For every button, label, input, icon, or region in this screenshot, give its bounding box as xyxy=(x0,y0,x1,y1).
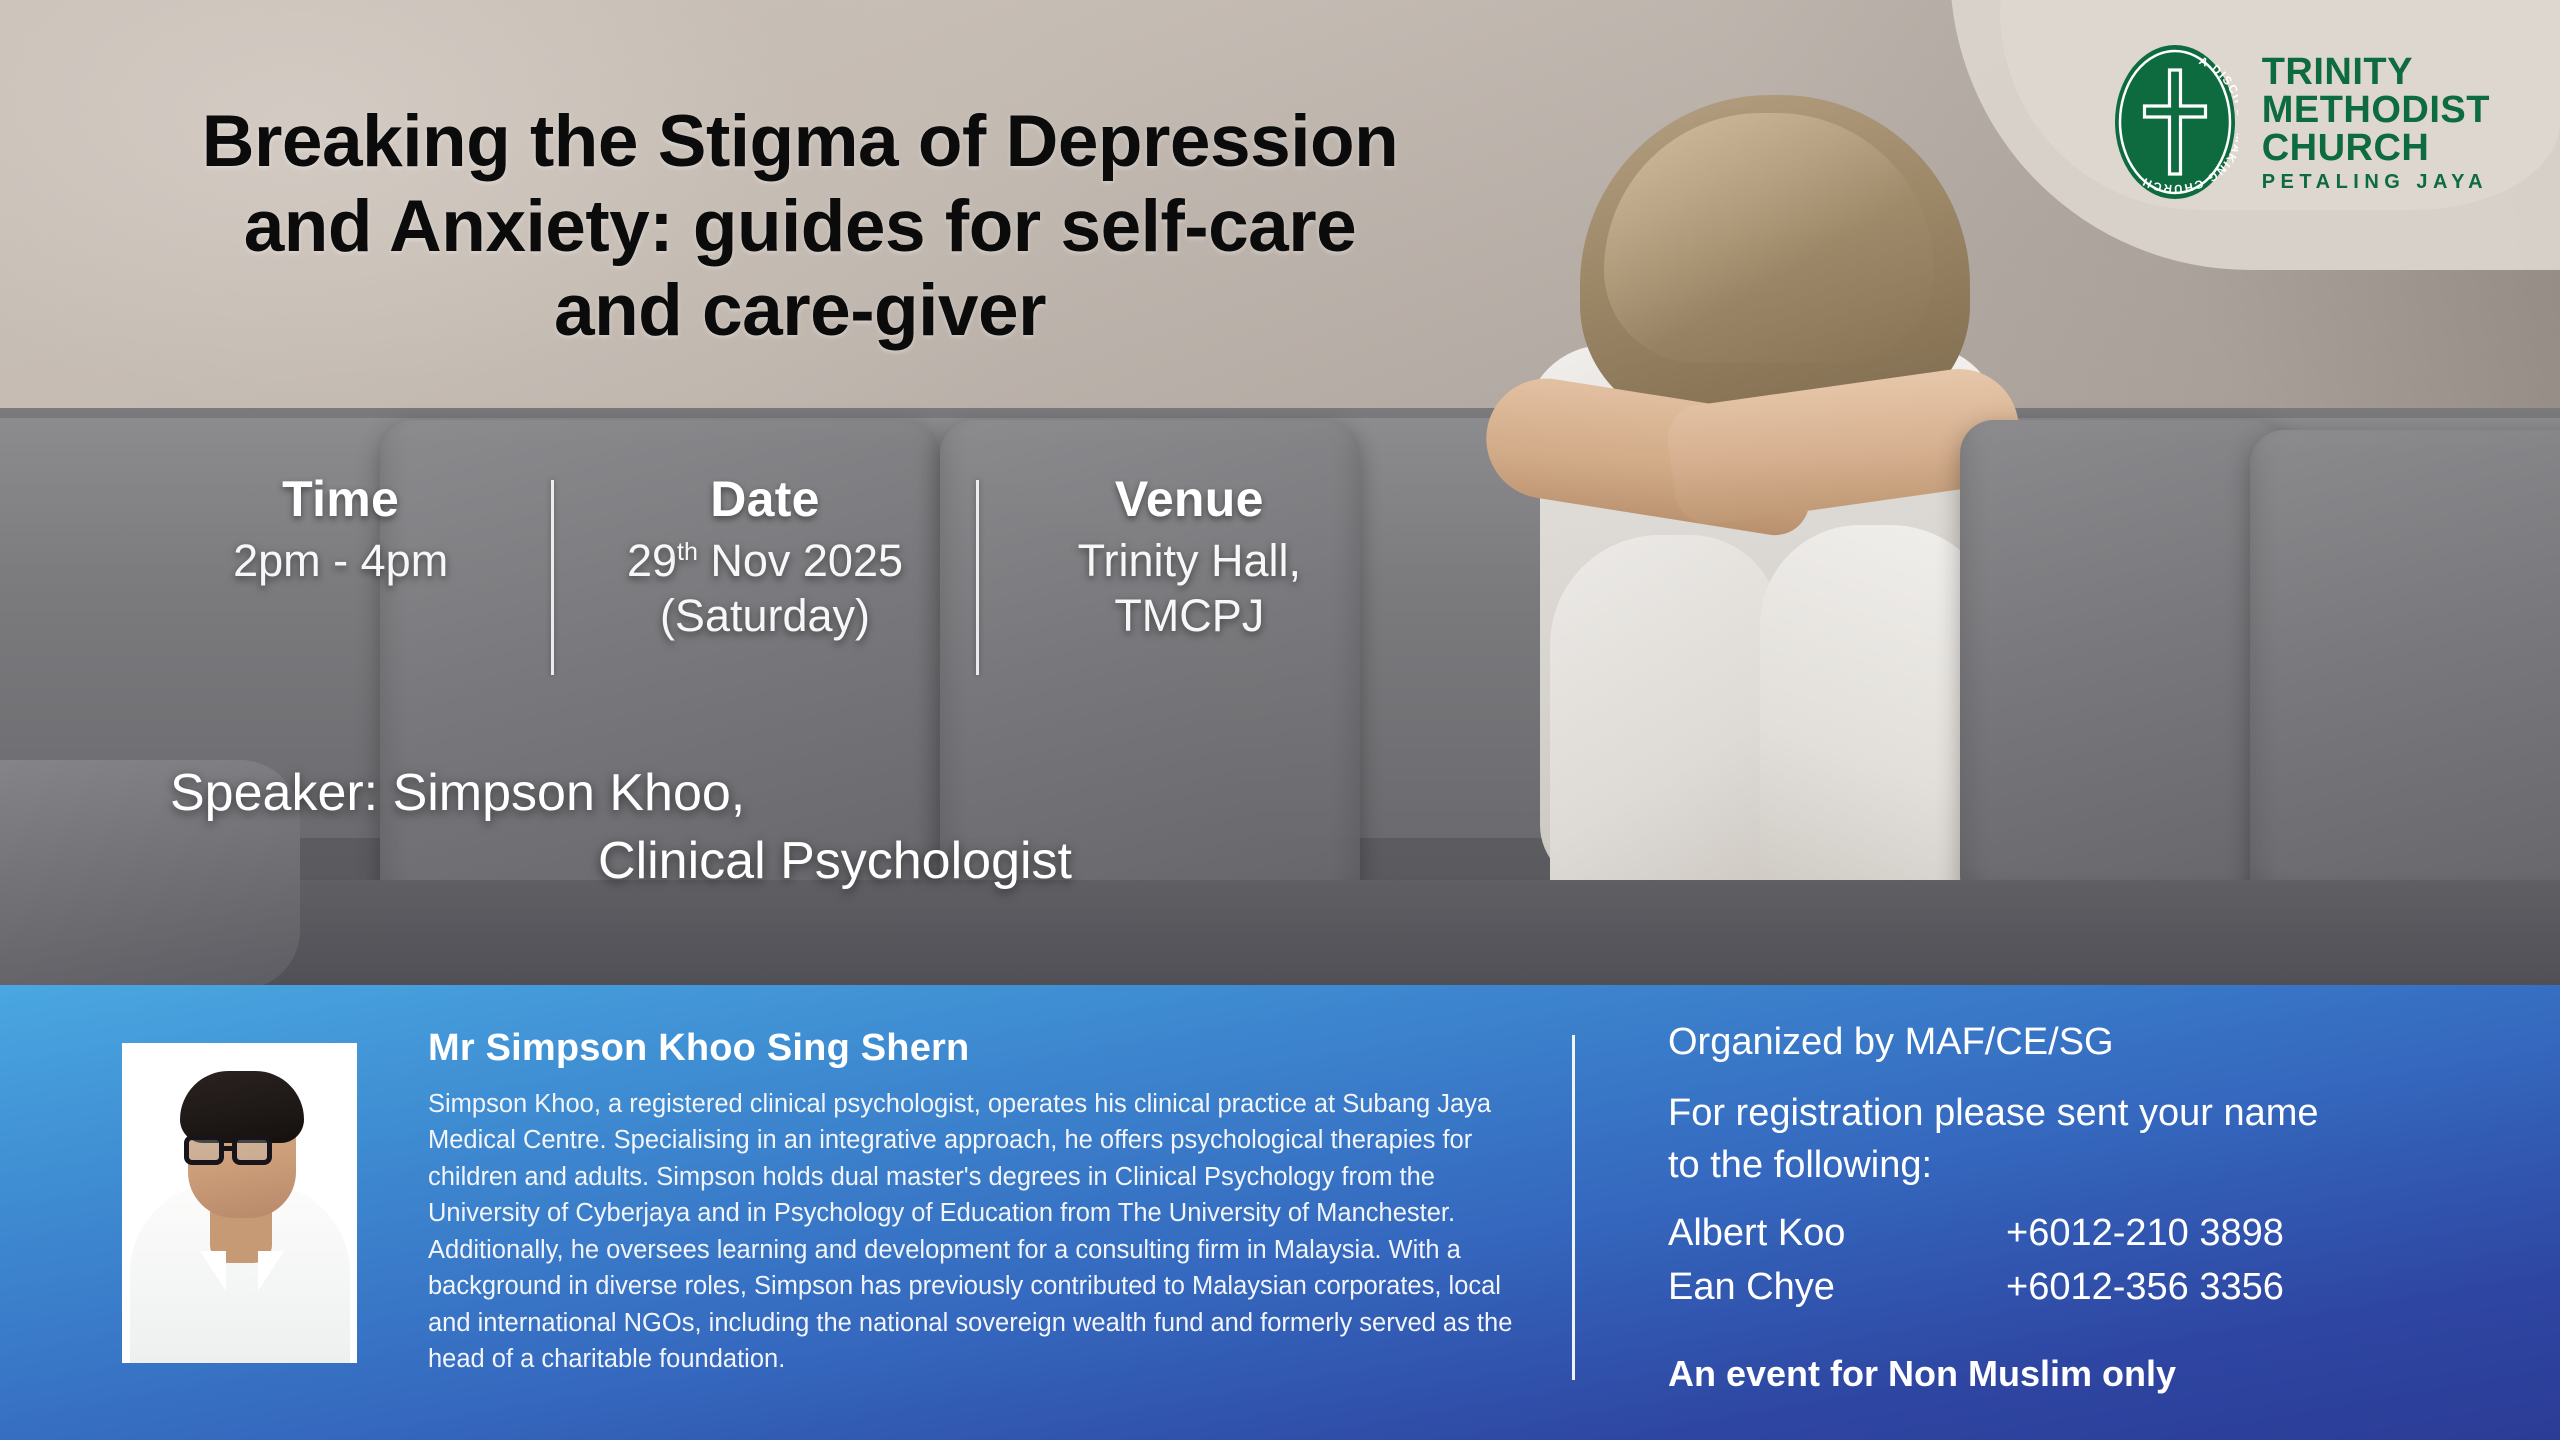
speaker-banner-line-2: Clinical Psychologist xyxy=(170,828,1320,896)
info-time: Time 2pm - 4pm xyxy=(130,470,551,589)
logo-line-trinity: TRINITY xyxy=(2262,53,2490,91)
registration-block: Organized by MAF/CE/SG For registration … xyxy=(1668,1021,2528,1395)
speaker-banner-line-1: Speaker: Simpson Khoo, xyxy=(170,764,745,822)
contact-phone[interactable]: +6012-210 3898 xyxy=(2006,1207,2284,1261)
logo-line-petaling-jaya: PETALING JAYA xyxy=(2262,172,2490,192)
portrait-glasses-left-lens xyxy=(184,1135,224,1165)
event-poster: A DISCIPLE-MAKING CHURCH TRINITY METHODI… xyxy=(0,0,2560,1440)
speaker-portrait-photo xyxy=(122,1043,357,1363)
contact-name: Albert Koo xyxy=(1668,1207,2006,1261)
contact-name: Ean Chye xyxy=(1668,1261,2006,1315)
contact-row: Ean Chye +6012-356 3356 xyxy=(1668,1261,2528,1315)
info-venue-value: Trinity Hall,TMCPJ xyxy=(997,534,1382,644)
speaker-bio-text: Simpson Khoo, a registered clinical psyc… xyxy=(428,1086,1518,1378)
date-ordinal: th xyxy=(677,538,698,566)
photo-couch-seat xyxy=(0,880,2560,985)
date-day: 29 xyxy=(627,535,677,586)
photo-cushion-3 xyxy=(1960,420,2290,910)
registration-contacts: Albert Koo +6012-210 3898 Ean Chye +6012… xyxy=(1668,1207,2528,1315)
info-date-value: 29th Nov 2025(Saturday) xyxy=(572,534,957,644)
portrait-collar-left xyxy=(200,1251,226,1291)
portrait-hair xyxy=(180,1071,304,1143)
info-date: Date 29th Nov 2025(Saturday) xyxy=(554,470,975,644)
hero-photo-section: A DISCIPLE-MAKING CHURCH TRINITY METHODI… xyxy=(0,0,2560,985)
info-venue: Venue Trinity Hall,TMCPJ xyxy=(979,470,1400,644)
registration-instruction-line-2: to the following: xyxy=(1668,1142,2528,1190)
portrait-collar-right xyxy=(258,1251,284,1291)
date-weekday: (Saturday) xyxy=(660,590,870,641)
contact-phone[interactable]: +6012-356 3356 xyxy=(2006,1261,2284,1315)
venue-line-1: Trinity Hall, xyxy=(1078,535,1301,586)
venue-line-2: TMCPJ xyxy=(1114,590,1264,641)
photo-cushion-4 xyxy=(2250,430,2560,910)
person-knee-left xyxy=(1550,535,1780,915)
info-date-label: Date xyxy=(572,470,957,528)
band-vertical-divider xyxy=(1572,1035,1575,1380)
portrait-glasses-right-lens xyxy=(232,1135,272,1165)
church-emblem-icon: A DISCIPLE-MAKING CHURCH xyxy=(2112,42,2238,202)
info-time-label: Time xyxy=(148,470,533,528)
event-restriction-note: An event for Non Muslim only xyxy=(1668,1353,2528,1395)
contact-row: Albert Koo +6012-210 3898 xyxy=(1668,1207,2528,1261)
registration-instruction-line-1: For registration please sent your name xyxy=(1668,1090,2528,1138)
event-info-row: Time 2pm - 4pm Date 29th Nov 2025(Saturd… xyxy=(130,470,1400,675)
speaker-bio-block: Mr Simpson Khoo Sing Shern Simpson Khoo,… xyxy=(428,1027,1518,1378)
speaker-bio-name: Mr Simpson Khoo Sing Shern xyxy=(428,1027,1518,1070)
bottom-info-band: Mr Simpson Khoo Sing Shern Simpson Khoo,… xyxy=(0,985,2560,1440)
church-logo-wordmark: TRINITY METHODIST CHURCH PETALING JAYA xyxy=(2262,53,2490,192)
organized-by-text: Organized by MAF/CE/SG xyxy=(1668,1021,2528,1064)
info-time-value: 2pm - 4pm xyxy=(148,534,533,589)
logo-line-church: CHURCH xyxy=(2262,129,2490,167)
speaker-banner: Speaker: Simpson Khoo, Clinical Psycholo… xyxy=(170,760,1320,895)
church-logo: A DISCIPLE-MAKING CHURCH TRINITY METHODI… xyxy=(2112,42,2490,202)
date-rest: Nov 2025 xyxy=(698,535,903,586)
portrait-glasses-bridge xyxy=(224,1146,236,1151)
logo-line-methodist: METHODIST xyxy=(2262,91,2490,129)
info-venue-label: Venue xyxy=(997,470,1382,528)
poster-headline: Breaking the Stigma of Depression and An… xyxy=(190,100,1410,354)
